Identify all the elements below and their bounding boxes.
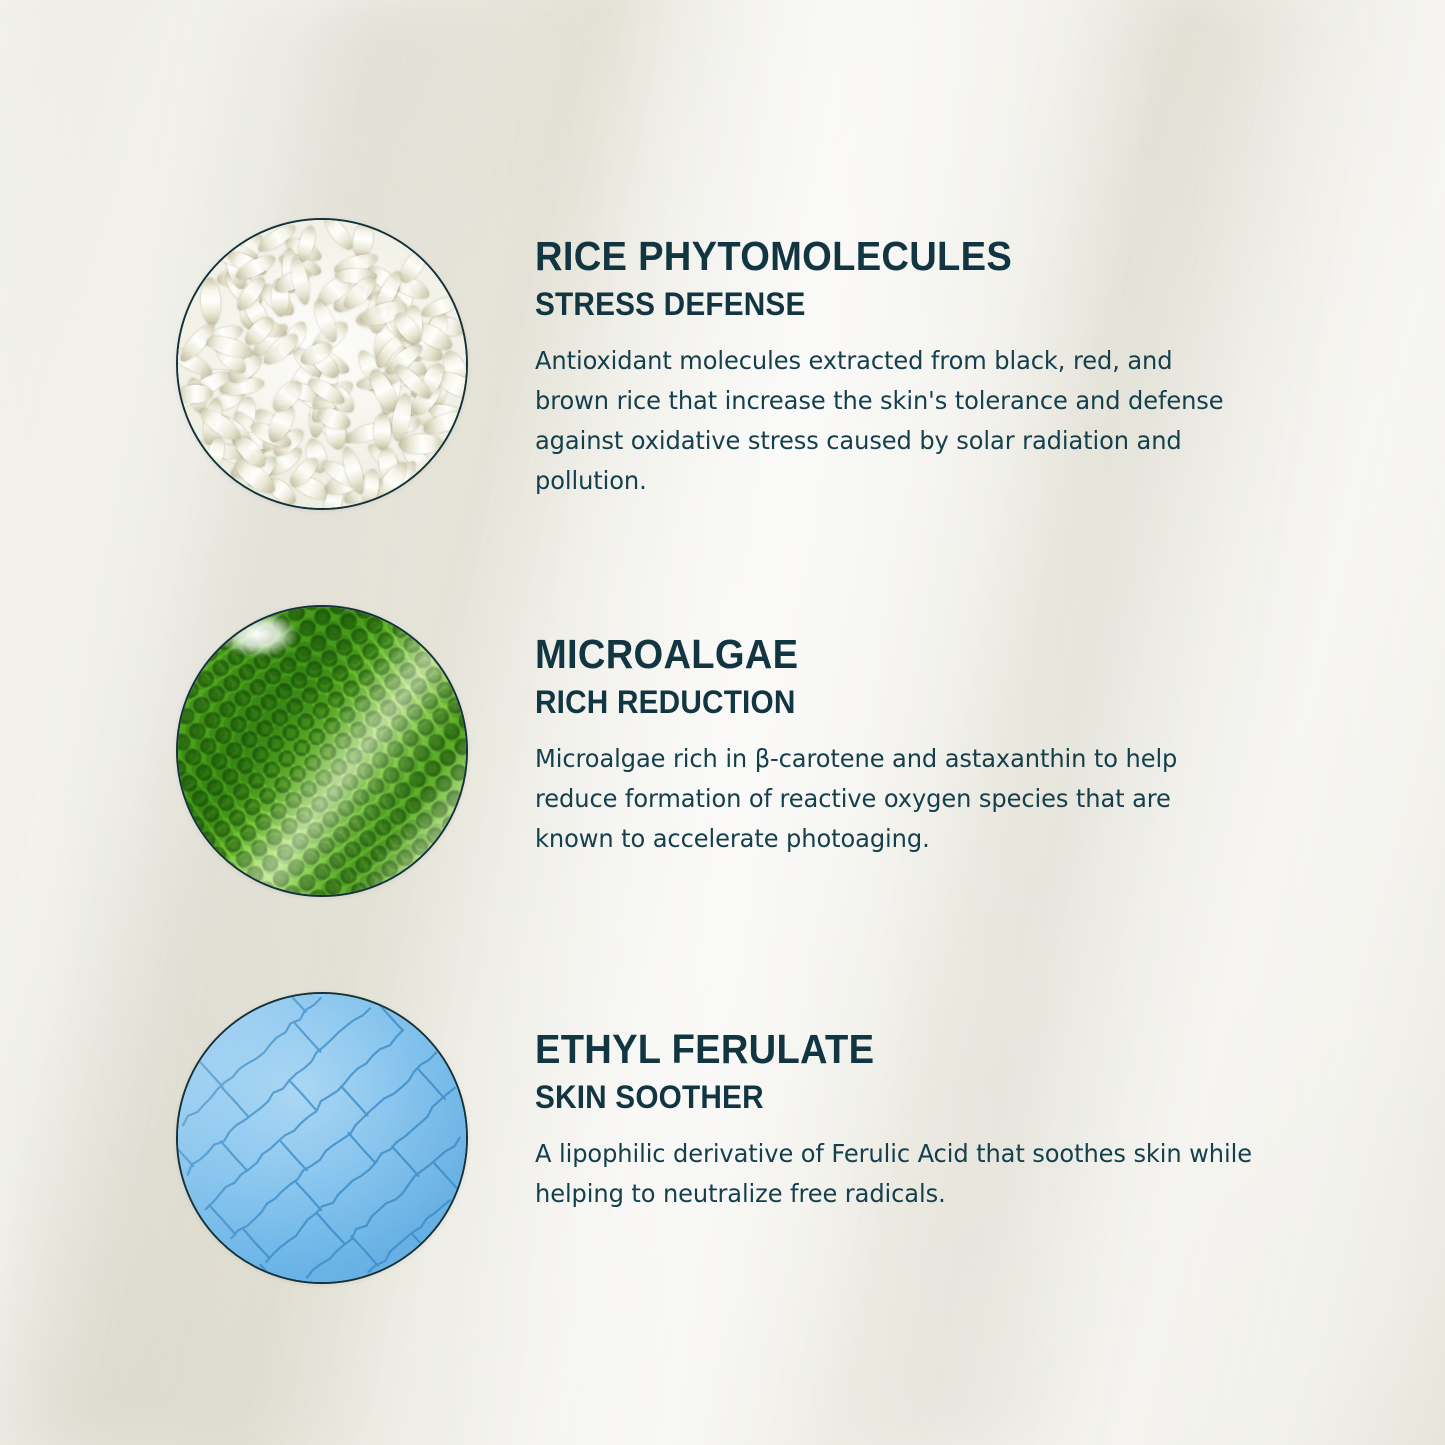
- ingredient-subtitle: RICH REDUCTION: [535, 686, 1228, 718]
- ingredient-image-rice-grains-micrograph: [176, 218, 468, 510]
- ingredient-row-microalgae: MICROALGAE RICH REDUCTION Microalgae ric…: [0, 602, 1445, 902]
- ingredient-list: RICE PHYTOMOLECULES STRESS DEFENSE Antio…: [0, 0, 1445, 1445]
- ingredient-image-plant-cells-micrograph: [176, 992, 468, 1284]
- ingredient-benefits-panel: RICE PHYTOMOLECULES STRESS DEFENSE Antio…: [0, 0, 1445, 1445]
- ingredient-subtitle: SKIN SOOTHER: [535, 1081, 1228, 1113]
- rice-grain-cluster: [176, 218, 468, 510]
- ingredient-row-ethyl-ferulate: ETHYL FERULATE SKIN SOOTHER A lipophilic…: [0, 989, 1445, 1289]
- ingredient-title: ETHYL FERULATE: [535, 1029, 1228, 1070]
- ingredient-text-block: ETHYL FERULATE SKIN SOOTHER A lipophilic…: [535, 1029, 1280, 1214]
- ingredient-image-microalgae-micrograph: [176, 605, 468, 897]
- ingredient-description: Microalgae rich in β-carotene and astaxa…: [535, 739, 1254, 859]
- ingredient-title: RICE PHYTOMOLECULES: [535, 236, 1228, 277]
- plant-cell-sheen: [176, 992, 468, 1284]
- ingredient-subtitle: STRESS DEFENSE: [535, 288, 1228, 320]
- algae-highlight: [176, 605, 468, 897]
- ingredient-title: MICROALGAE: [535, 634, 1228, 675]
- ingredient-description: A lipophilic derivative of Ferulic Acid …: [535, 1134, 1254, 1214]
- ingredient-text-block: RICE PHYTOMOLECULES STRESS DEFENSE Antio…: [535, 236, 1280, 501]
- ingredient-row-rice-phytomolecules: RICE PHYTOMOLECULES STRESS DEFENSE Antio…: [0, 215, 1445, 515]
- ingredient-description: Antioxidant molecules extracted from bla…: [535, 341, 1254, 501]
- ingredient-text-block: MICROALGAE RICH REDUCTION Microalgae ric…: [535, 634, 1280, 859]
